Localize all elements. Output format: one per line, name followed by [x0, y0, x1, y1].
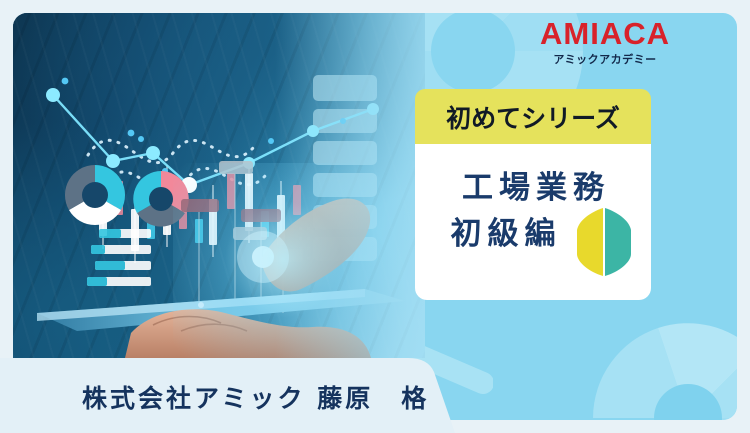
- course-title-body: 工場業務 初級編: [415, 144, 651, 300]
- slide-canvas: AMIACA アミックアカデミー 初めてシリーズ 工場業務 初級編 株式会社アミ…: [0, 0, 750, 433]
- course-title-card: 初めてシリーズ 工場業務 初級編: [415, 89, 651, 300]
- footer-band-text-layer: 株式会社アミック 藤原 格: [0, 358, 470, 433]
- photo-right-fade: [275, 13, 425, 358]
- series-ribbon: 初めてシリーズ: [415, 89, 651, 144]
- donut-watermark-bottom: [573, 303, 737, 420]
- donut-chart-left: [65, 165, 125, 225]
- series-ribbon-label: 初めてシリーズ: [446, 99, 620, 135]
- logo-tagline: アミックアカデミー: [525, 54, 685, 65]
- hero-photo: [13, 13, 425, 358]
- amiaca-logo: AMIACA アミックアカデミー: [525, 18, 685, 65]
- bar-rows: [87, 229, 151, 286]
- presenter-name: 株式会社アミック 藤原 格: [82, 379, 429, 415]
- wakaba-beginner-mark-icon: [573, 204, 637, 278]
- course-title-line1: 工場業務: [415, 162, 651, 207]
- logo-wordmark: AMIACA: [525, 18, 685, 49]
